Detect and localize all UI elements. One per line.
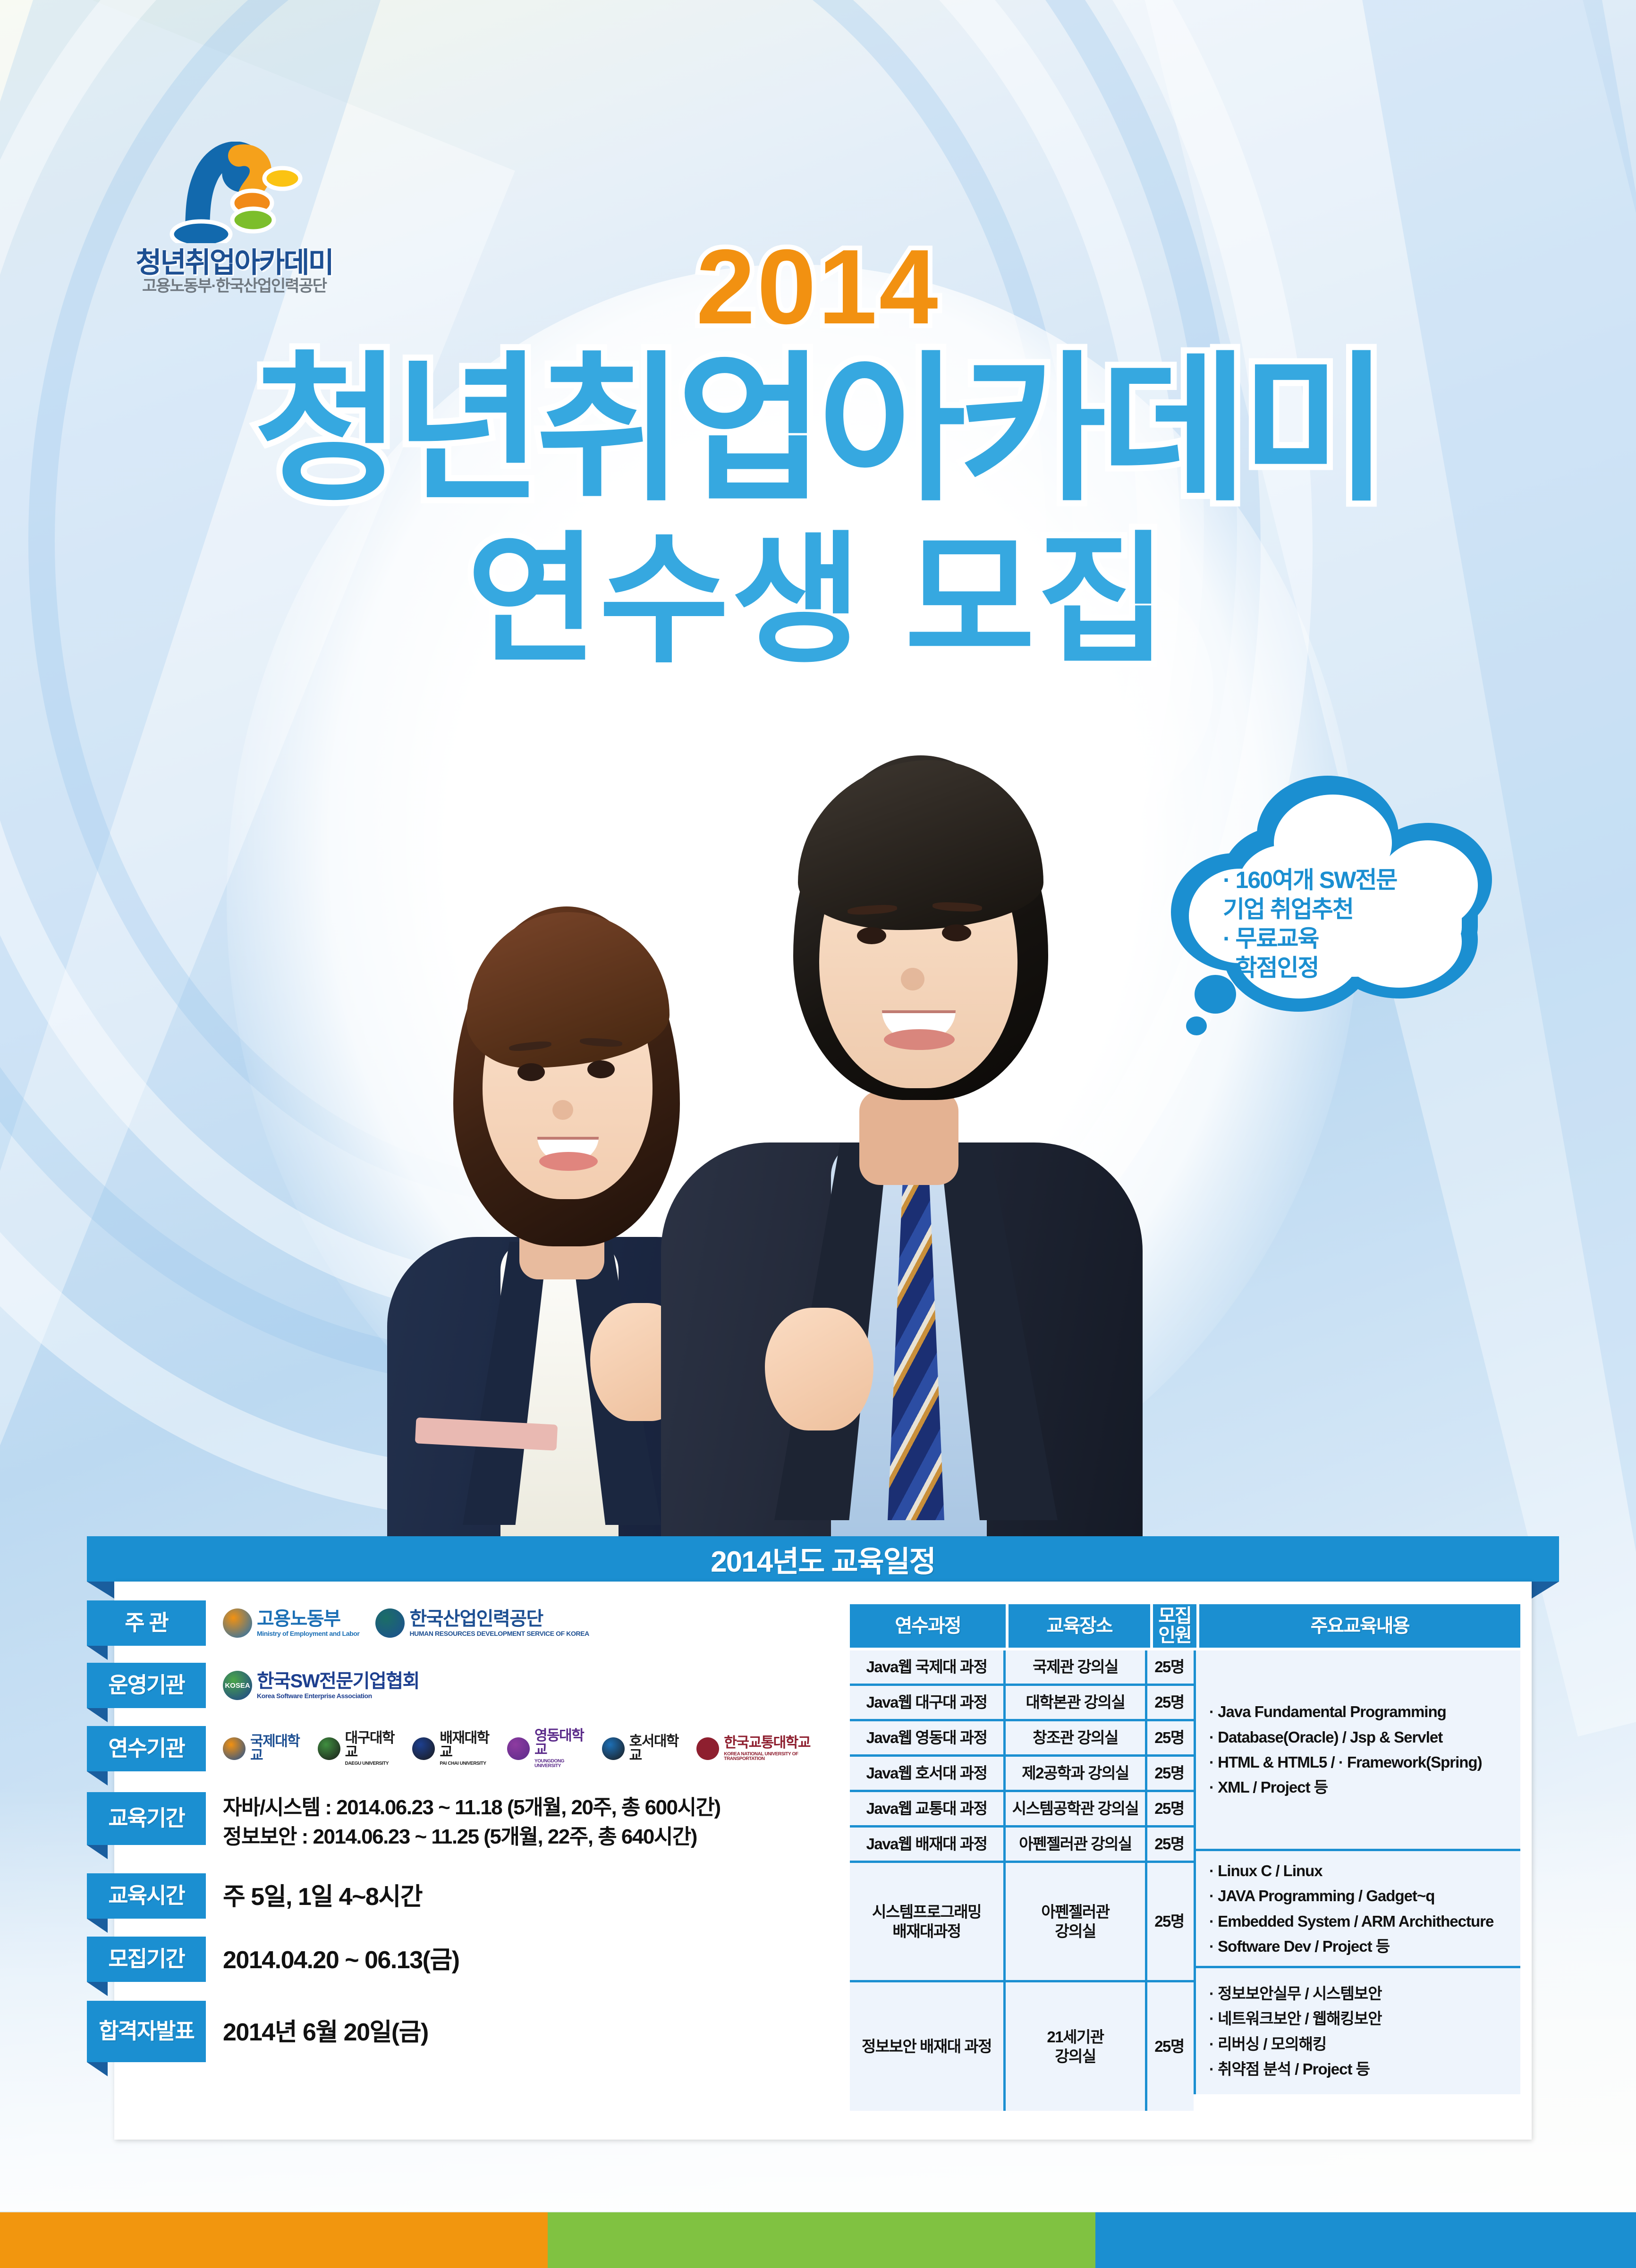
table-description-line: · 리버싱 / 모의해킹: [1209, 2031, 1520, 2056]
partner-logo: 국제대학교: [223, 1735, 302, 1763]
table-cell: Java웹 영동대 과정: [850, 1721, 1006, 1754]
table-cell: Java웹 국제대 과정: [850, 1650, 1006, 1684]
table-description-line: · XML / Project 등: [1209, 1775, 1520, 1800]
partner-logo: 호서대학교: [602, 1735, 681, 1763]
table-description-line: · 취약점 분석 / Project 등: [1209, 2056, 1520, 2082]
info-value: 자바/시스템 : 2014.06.23 ~ 11.18 (5개월, 20주, 총…: [206, 1792, 823, 1852]
schedule-banner-title: 2014년도 교육일정: [711, 1538, 935, 1580]
table-row: Java웹 교통대 과정시스템공학관 강의실25명: [850, 1790, 1194, 1825]
table-cell-line: Java웹 국제대 과정: [866, 1657, 987, 1676]
table-description-line: · Database(Oracle) / Jsp & Servlet: [1209, 1725, 1520, 1750]
info-value: 2014.04.20 ~ 06.13(금): [206, 1937, 823, 1978]
table-body: Java웹 국제대 과정국제관 강의실25명Java웹 대구대 과정대학본관 강…: [850, 1650, 1520, 2111]
table-cell-line: Java웹 교통대 과정: [866, 1799, 987, 1818]
table-header-line: 교육장소: [1046, 1616, 1112, 1636]
footer-bar: [0, 2212, 548, 2268]
partner-logo-mark: KOSEA: [223, 1671, 252, 1700]
info-label-fold: [87, 1845, 108, 1859]
partner-name-ko: 대구대학교: [345, 1731, 397, 1760]
table-cell-line: 21세기관: [1047, 2027, 1103, 2047]
partner-logo: 한국교통대학교KOREA NATIONAL UNIVERSITY OF TRAN…: [696, 1736, 823, 1761]
table-cell-line: 아펜젤러관 강의실: [1019, 1834, 1132, 1853]
course-table: 연수과정교육장소모집인원주요교육내용 Java웹 국제대 과정국제관 강의실25…: [850, 1604, 1520, 2111]
table-cell: 25명: [1147, 1686, 1191, 1719]
info-label: 연수기관: [87, 1726, 206, 1771]
partner-logo-mark: [375, 1608, 405, 1638]
info-row: 연수기관국제대학교대구대학교DAEGU UNIVERSITY배재대학교PAI C…: [87, 1726, 823, 1786]
footer-color-bars: [0, 2212, 1636, 2268]
table-cell-line: 제2공학과 강의실: [1022, 1763, 1129, 1783]
table-header-line: 모집: [1158, 1607, 1191, 1626]
info-value: 주 5일, 1일 4~8시간: [206, 1873, 823, 1915]
partner-logo: 고용노동부Ministry of Employment and Labor: [223, 1608, 359, 1638]
partner-logo-mark: [223, 1737, 246, 1760]
partner-logo: 한국산업인력공단HUMAN RESOURCES DEVELOPMENT SERV…: [375, 1608, 589, 1638]
partner-logo-mark: [412, 1737, 435, 1760]
info-list: 주 관고용노동부Ministry of Employment and Labor…: [87, 1600, 823, 2077]
partner-name-en: PAI CHAI UNIVERSITY: [440, 1761, 491, 1766]
table-cell: 21세기관강의실: [1006, 1982, 1147, 2111]
table-cell-line: 25명: [1154, 1728, 1184, 1747]
info-label-wrap: 교육시간: [87, 1873, 206, 1919]
info-label-fold: [87, 1708, 108, 1722]
table-left-columns: Java웹 국제대 과정국제관 강의실25명Java웹 대구대 과정대학본관 강…: [850, 1650, 1194, 2111]
bubble-line-3: · 무료교육: [1223, 924, 1468, 953]
info-label-line: 연수기관: [108, 1736, 184, 1761]
info-value-line: 자바/시스템 : 2014.06.23 ~ 11.18 (5개월, 20주, 총…: [223, 1793, 823, 1822]
bubble-line-1: · 160여개 SW전문: [1223, 865, 1468, 895]
table-cell-line: 대학본관 강의실: [1026, 1693, 1125, 1712]
footer-bar: [548, 2212, 1095, 2268]
partner-logo-text: 한국교통대학교KOREA NATIONAL UNIVERSITY OF TRAN…: [724, 1736, 823, 1761]
partner-logo-text: 국제대학교: [250, 1735, 302, 1763]
table-cell: 정보보안 배재대 과정: [850, 1982, 1006, 2111]
table-header-cell: 교육장소: [1009, 1604, 1150, 1648]
partner-logo-text: 배재대학교PAI CHAI UNIVERSITY: [440, 1731, 491, 1766]
info-row: 주 관고용노동부Ministry of Employment and Labor…: [87, 1600, 823, 1657]
partner-logo: 영동대학교YOUNGDONG UNIVERSITY: [507, 1729, 586, 1769]
table-cell-line: 국제관 강의실: [1033, 1657, 1118, 1676]
woman-eye-right: [587, 1060, 615, 1078]
info-label: 모집기간: [87, 1937, 206, 1982]
partner-logo: 배재대학교PAI CHAI UNIVERSITY: [412, 1731, 491, 1766]
table-cell-line: 25명: [1154, 1912, 1184, 1931]
partner-name-ko: 호서대학교: [629, 1735, 681, 1763]
table-cell: 아펜젤러관강의실: [1006, 1863, 1147, 1980]
partner-name-en: Ministry of Employment and Labor: [257, 1630, 359, 1637]
table-description-line: · Java Fundamental Programming: [1209, 1699, 1520, 1724]
table-cell: 아펜젤러관 강의실: [1006, 1828, 1147, 1861]
table-cell-line: Java웹 영동대 과정: [866, 1728, 987, 1747]
table-cell-line: 정보보안 배재대 과정: [862, 2037, 992, 2056]
table-cell-line: 시스템공학관 강의실: [1012, 1799, 1138, 1818]
bubble-line-4: · 학점인정: [1223, 953, 1468, 982]
info-label-line: 교육기간: [108, 1806, 184, 1831]
info-label: 운영기관: [87, 1663, 206, 1708]
table-cell: 25명: [1147, 1828, 1191, 1861]
table-description-line: · Software Dev / Project 등: [1209, 1934, 1520, 1959]
man-eye-left: [857, 927, 886, 944]
academy-logo-mark: [168, 142, 305, 243]
table-cell: 시스템프로그래밍배재대과정: [850, 1863, 1006, 1980]
table-cell-line: 시스템프로그래밍: [872, 1902, 981, 1921]
partner-logo-text: 영동대학교YOUNGDONG UNIVERSITY: [534, 1729, 586, 1769]
info-label-fold: [87, 1771, 108, 1786]
table-cell-line: Java웹 대구대 과정: [866, 1693, 987, 1712]
partner-logo-mark: [223, 1608, 252, 1638]
table-cell: 창조관 강의실: [1006, 1721, 1147, 1754]
table-cell: 25명: [1147, 1982, 1191, 2111]
partner-logo-text: 한국산업인력공단HUMAN RESOURCES DEVELOPMENT SERV…: [409, 1609, 589, 1637]
table-description-line: · HTML & HTML5 / · Framework(Spring): [1209, 1750, 1520, 1775]
hero-year: 2014: [0, 234, 1636, 340]
woman-fringe: [466, 912, 670, 1068]
hero-subtitle: 연수생 모집: [0, 526, 1636, 674]
man-lip-lower: [884, 1029, 955, 1050]
partner-logo-strip: 국제대학교대구대학교DAEGU UNIVERSITY배재대학교PAI CHAI …: [206, 1726, 823, 1771]
info-label: 합격자발표: [87, 2001, 206, 2062]
table-cell-line: 25명: [1154, 2037, 1184, 2056]
table-header-line: 인원: [1158, 1626, 1191, 1645]
students-photo: [359, 727, 1161, 1539]
info-value-line: 2014.04.20 ~ 06.13(금): [223, 1943, 823, 1978]
partner-logo-strip: KOSEA한국SW전문기업협회Korea Software Enterprise…: [206, 1663, 419, 1708]
table-header-cell: 주요교육내용: [1199, 1604, 1520, 1648]
info-value-line: 주 5일, 1일 4~8시간: [223, 1880, 823, 1915]
table-cell: Java웹 호서대 과정: [850, 1757, 1006, 1790]
partner-logo-mark: [696, 1737, 719, 1760]
table-description-column: · Java Fundamental Programming· Database…: [1194, 1650, 1520, 2111]
table-description-line: · 정보보안실무 / 시스템보안: [1209, 1981, 1520, 2006]
partner-name-ko: 한국교통대학교: [724, 1736, 823, 1750]
partner-name-en: KOREA NATIONAL UNIVERSITY OF TRANSPORTAT…: [724, 1752, 823, 1761]
partner-name-en: YOUNGDONG UNIVERSITY: [534, 1759, 586, 1769]
man-neck: [859, 1091, 958, 1185]
info-label-wrap: 연수기관: [87, 1726, 206, 1771]
info-label-fold: [87, 1982, 108, 1996]
partner-name-ko: 배재대학교: [440, 1731, 491, 1760]
schedule-banner: 2014년도 교육일정: [87, 1536, 1559, 1582]
table-header-line: 주요교육내용: [1311, 1616, 1409, 1636]
info-label-wrap: 모집기간: [87, 1937, 206, 1982]
partner-logo-mark: [507, 1737, 530, 1760]
info-label-wrap: 교육기간: [87, 1792, 206, 1845]
woman-lip-lower: [539, 1152, 598, 1171]
table-cell: 제2공학과 강의실: [1006, 1757, 1147, 1790]
info-label-line: 주 관: [125, 1611, 168, 1635]
info-label: 교육시간: [87, 1873, 206, 1919]
table-cell: 대학본관 강의실: [1006, 1686, 1147, 1719]
info-row: 운영기관KOSEA한국SW전문기업협회Korea Software Enterp…: [87, 1663, 823, 1720]
info-label-line: 발표: [156, 2019, 194, 2044]
table-row: Java웹 배재대 과정아펜젤러관 강의실25명: [850, 1825, 1194, 1861]
info-value: 2014년 6월 20일(금): [206, 2001, 823, 2050]
table-row: Java웹 영동대 과정창조관 강의실25명: [850, 1719, 1194, 1754]
info-label-wrap: 합격자발표: [87, 2001, 206, 2062]
hero-title: 청년취업아카데미: [0, 347, 1636, 514]
partner-logo-text: 고용노동부Ministry of Employment and Labor: [257, 1609, 359, 1637]
table-cell: 25명: [1147, 1792, 1191, 1825]
info-label-wrap: 운영기관: [87, 1663, 206, 1708]
bubble-line-2: 기업 취업추천: [1223, 895, 1468, 924]
table-row: Java웹 대구대 과정대학본관 강의실25명: [850, 1684, 1194, 1719]
table-cell: 25명: [1147, 1650, 1191, 1684]
table-header-cell: 모집인원: [1153, 1604, 1196, 1648]
partner-logo-mark: [318, 1737, 340, 1760]
partner-name-ko: 국제대학교: [250, 1735, 302, 1763]
man-nose: [901, 968, 924, 990]
partner-name-en: DAEGU UNIVERSITY: [345, 1761, 397, 1766]
man-fist: [765, 1308, 873, 1430]
table-cell: Java웹 교통대 과정: [850, 1792, 1006, 1825]
table-cell-line: 25명: [1154, 1693, 1184, 1712]
table-cell-line: 25명: [1154, 1657, 1184, 1676]
table-cell-line: Java웹 호서대 과정: [866, 1763, 987, 1783]
partner-logo-strip: 고용노동부Ministry of Employment and Labor한국산…: [206, 1600, 589, 1646]
table-cell-line: 25명: [1154, 1763, 1184, 1783]
table-cell: 국제관 강의실: [1006, 1650, 1147, 1684]
table-cell-line: 아펜젤러관: [1041, 1902, 1109, 1921]
partner-logo-mark: [602, 1737, 625, 1760]
info-label-wrap: 주 관: [87, 1600, 206, 1646]
info-value-line: 2014년 6월 20일(금): [223, 2015, 823, 2050]
table-row: 시스템프로그래밍배재대과정아펜젤러관강의실25명: [850, 1861, 1194, 1980]
table-description-line: · Linux C / Linux: [1209, 1858, 1520, 1883]
table-cell-line: 강의실: [1047, 2047, 1103, 2066]
table-cell-line: 배재대과정: [872, 1921, 981, 1941]
partner-logo: KOSEA한국SW전문기업협회Korea Software Enterprise…: [223, 1671, 419, 1700]
table-description-line: · JAVA Programming / Gadget~q: [1209, 1883, 1520, 1908]
info-row: 교육시간주 5일, 1일 4~8시간: [87, 1873, 823, 1931]
benefits-thought-bubble: · 160여개 SW전문 기업 취업추천 · 무료교육 · 학점인정: [1166, 767, 1497, 1032]
woman-nose: [552, 1100, 573, 1120]
info-label-line: 모집기간: [108, 1947, 184, 1972]
partner-logo-text: 대구대학교DAEGU UNIVERSITY: [345, 1731, 397, 1766]
partner-name-ko: 고용노동부: [257, 1609, 359, 1628]
table-cell-line: 25명: [1154, 1834, 1184, 1853]
table-row: Java웹 국제대 과정국제관 강의실25명: [850, 1650, 1194, 1684]
table-description-line: · Embedded System / ARM Archithecture: [1209, 1909, 1520, 1934]
man-eye-right: [942, 924, 971, 941]
partner-name-ko: 영동대학교: [534, 1729, 586, 1757]
table-header-row: 연수과정교육장소모집인원주요교육내용: [850, 1604, 1520, 1648]
info-row: 합격자발표2014년 6월 20일(금): [87, 2001, 823, 2072]
partner-logo-text: 호서대학교: [629, 1735, 681, 1763]
footer-bar: [1095, 2212, 1636, 2268]
table-cell-line: 25명: [1154, 1799, 1184, 1818]
table-cell: Java웹 대구대 과정: [850, 1686, 1006, 1719]
table-cell: Java웹 배재대 과정: [850, 1828, 1006, 1861]
table-header-cell: 연수과정: [850, 1604, 1006, 1648]
table-description-line: · 네트워크보안 / 웹해킹보안: [1209, 2006, 1520, 2031]
info-value-line: 정보보안 : 2014.06.23 ~ 11.25 (5개월, 22주, 총 6…: [223, 1822, 823, 1852]
bubble-text: · 160여개 SW전문 기업 취업추천 · 무료교육 · 학점인정: [1223, 865, 1468, 982]
info-label: 교육기간: [87, 1792, 206, 1845]
table-cell: 시스템공학관 강의실: [1006, 1792, 1147, 1825]
info-label-fold: [87, 1646, 108, 1660]
info-row: 교육기간자바/시스템 : 2014.06.23 ~ 11.18 (5개월, 20…: [87, 1792, 823, 1868]
info-label-fold: [87, 1919, 108, 1933]
table-cell: 25명: [1147, 1721, 1191, 1754]
info-label-fold: [87, 2062, 108, 2076]
table-cell: 25명: [1147, 1863, 1191, 1980]
table-cell: 25명: [1147, 1757, 1191, 1790]
info-label-line: 합격자: [99, 2019, 156, 2044]
partner-name-ko: 한국산업인력공단: [409, 1609, 589, 1628]
table-description-cell: · 정보보안실무 / 시스템보안· 네트워크보안 / 웹해킹보안· 리버싱 / …: [1194, 1966, 1520, 2094]
partner-name-en: HUMAN RESOURCES DEVELOPMENT SERVICE OF K…: [409, 1630, 589, 1637]
info-row: 모집기간2014.04.20 ~ 06.13(금): [87, 1937, 823, 1995]
partner-name-en: Korea Software Enterprise Association: [257, 1693, 419, 1699]
partner-logo-text: 한국SW전문기업협회Korea Software Enterprise Asso…: [257, 1672, 419, 1699]
woman-eye-left: [517, 1063, 545, 1081]
table-cell-line: Java웹 배재대 과정: [866, 1834, 987, 1853]
partner-logo: 대구대학교DAEGU UNIVERSITY: [318, 1731, 397, 1766]
info-label-line: 운영기관: [108, 1673, 184, 1698]
table-cell-line: 창조관 강의실: [1033, 1728, 1118, 1747]
table-description-cell: · Linux C / Linux· JAVA Programming / Ga…: [1194, 1849, 1520, 1966]
table-row: 정보보안 배재대 과정21세기관강의실25명: [850, 1980, 1194, 2111]
table-cell-line: 강의실: [1041, 1921, 1109, 1941]
info-label-line: 교육시간: [108, 1884, 184, 1908]
man-fringe: [798, 760, 1043, 930]
table-header-line: 연수과정: [895, 1616, 960, 1636]
info-label: 주 관: [87, 1600, 206, 1646]
bubble-tail-small: [1186, 1016, 1207, 1035]
partner-name-ko: 한국SW전문기업협회: [257, 1672, 419, 1691]
table-description-cell: · Java Fundamental Programming· Database…: [1194, 1650, 1520, 1849]
table-row: Java웹 호서대 과정제2공학과 강의실25명: [850, 1754, 1194, 1790]
